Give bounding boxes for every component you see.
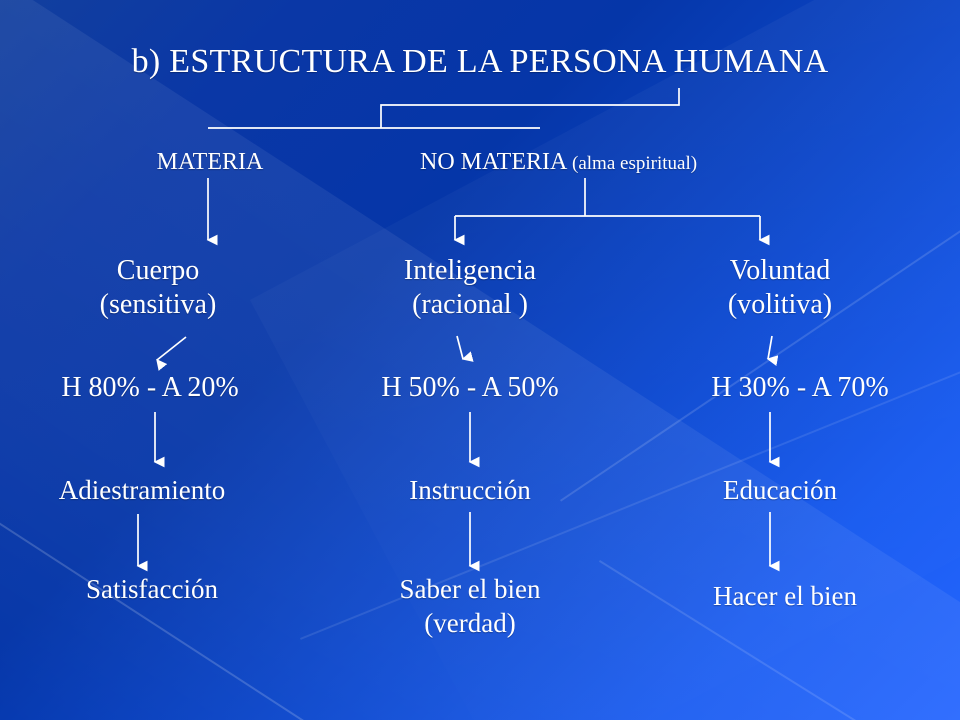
node-outcome-saber-el-bien-qualifier: (verdad)	[320, 607, 620, 641]
node-faculty-cuerpo-qualifier: (sensitiva)	[8, 288, 308, 322]
arrow-voluntad-to-ratio	[768, 336, 772, 359]
branch-label-no-materia: NO MATERIA (alma espiritual)	[420, 150, 890, 176]
node-process-instruccion: Instrucción	[320, 476, 620, 505]
connector-title-to-split	[381, 88, 679, 128]
arrow-cuerpo-to-ratio	[157, 337, 186, 360]
branch-label-materia: MATERIA	[60, 150, 360, 176]
node-faculty-voluntad-name: Voluntad	[630, 254, 930, 288]
node-faculty-cuerpo-name: Cuerpo	[8, 254, 308, 288]
node-process-educacion: Educación	[630, 476, 930, 505]
node-outcome-hacer-el-bien-text: Hacer el bien	[635, 580, 935, 614]
node-process-adiestramiento: Adiestramiento	[0, 476, 292, 505]
page-title: b) ESTRUCTURA DE LA PERSONA HUMANA	[0, 44, 960, 81]
arrow-inteligencia-to-ratio	[457, 336, 463, 359]
node-faculty-inteligencia: Inteligencia (racional )	[320, 254, 620, 322]
node-outcome-saber-el-bien-text: Saber el bien	[320, 573, 620, 607]
node-ratio-inteligencia: H 50% - A 50%	[320, 373, 620, 403]
node-outcome-hacer-el-bien: Hacer el bien	[635, 580, 935, 614]
node-ratio-cuerpo: H 80% - A 20%	[0, 373, 300, 403]
branch-label-no-materia-note: (alma espiritual)	[572, 153, 697, 174]
node-outcome-satisfaccion-text: Satisfacción	[2, 573, 302, 607]
branch-label-materia-text: MATERIA	[157, 149, 264, 175]
node-faculty-cuerpo: Cuerpo (sensitiva)	[8, 254, 308, 322]
node-faculty-voluntad-qualifier: (volitiva)	[630, 288, 930, 322]
node-faculty-inteligencia-name: Inteligencia	[320, 254, 620, 288]
node-outcome-saber-el-bien: Saber el bien (verdad)	[320, 573, 620, 641]
node-faculty-voluntad: Voluntad (volitiva)	[630, 254, 930, 322]
node-ratio-voluntad: H 30% - A 70%	[650, 373, 950, 403]
slide-canvas: b) ESTRUCTURA DE LA PERSONA HUMANA	[0, 0, 960, 720]
node-outcome-satisfaccion: Satisfacción	[2, 573, 302, 607]
node-faculty-inteligencia-qualifier: (racional )	[320, 288, 620, 322]
branch-label-no-materia-text: NO MATERIA	[420, 149, 566, 175]
